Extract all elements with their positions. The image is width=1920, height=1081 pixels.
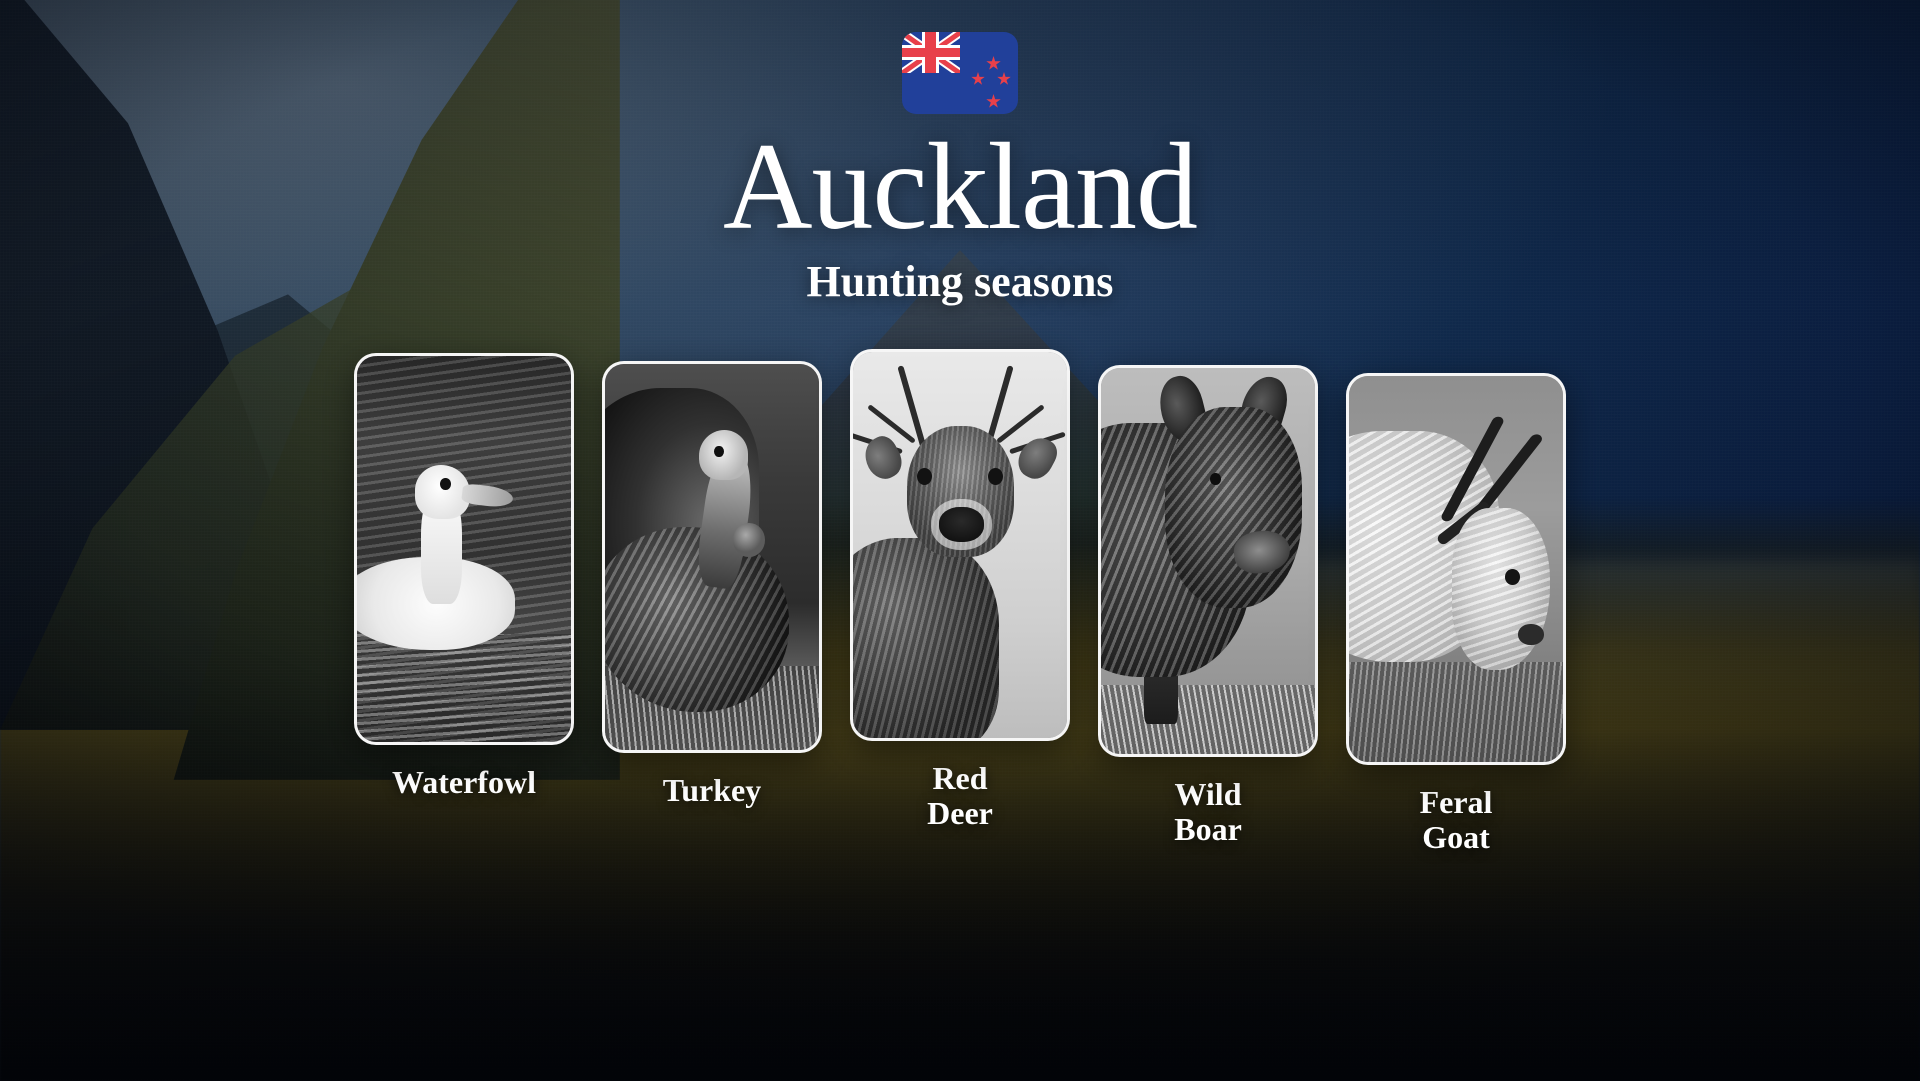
species-card-waterfowl[interactable]: Waterfowl: [354, 353, 574, 800]
species-label-red-deer: Red Deer: [927, 761, 993, 830]
species-label-waterfowl: Waterfowl: [392, 765, 536, 800]
southern-cross-star-4: [986, 94, 1001, 109]
species-card-image-waterfowl[interactable]: [354, 353, 574, 745]
species-card-wild-boar[interactable]: Wild Boar: [1098, 365, 1318, 846]
southern-cross-star-1: [986, 56, 1001, 71]
feral-goat-photo: [1349, 376, 1563, 762]
species-label-wild-boar: Wild Boar: [1174, 777, 1242, 846]
page-title: Auckland: [723, 124, 1197, 250]
flag-wrapper: [902, 32, 1018, 114]
southern-cross-star-3: [997, 72, 1011, 86]
species-card-image-turkey[interactable]: [602, 361, 822, 753]
new-zealand-flag-icon: [902, 32, 1018, 114]
southern-cross-star-2: [971, 72, 985, 86]
species-label-turkey: Turkey: [663, 773, 761, 808]
species-label-feral-goat: Feral Goat: [1420, 785, 1493, 854]
duck-swimming-photo: [357, 356, 571, 742]
species-card-row: Waterfowl Turkey: [280, 353, 1640, 854]
poster-content: Auckland Hunting seasons Waterfowl: [0, 0, 1920, 1081]
species-card-image-wild-boar[interactable]: [1098, 365, 1318, 757]
wild-boar-photo: [1101, 368, 1315, 754]
species-card-image-red-deer[interactable]: [850, 349, 1070, 741]
poster-stage: Auckland Hunting seasons Waterfowl: [0, 0, 1920, 1081]
species-card-image-feral-goat[interactable]: [1346, 373, 1566, 765]
species-card-red-deer[interactable]: Red Deer: [850, 349, 1070, 830]
page-subtitle: Hunting seasons: [807, 256, 1114, 307]
red-deer-stag-photo: [853, 352, 1067, 738]
species-card-feral-goat[interactable]: Feral Goat: [1346, 373, 1566, 854]
union-jack-canton: [902, 32, 960, 73]
species-card-turkey[interactable]: Turkey: [602, 361, 822, 808]
wild-turkey-photo: [605, 364, 819, 750]
